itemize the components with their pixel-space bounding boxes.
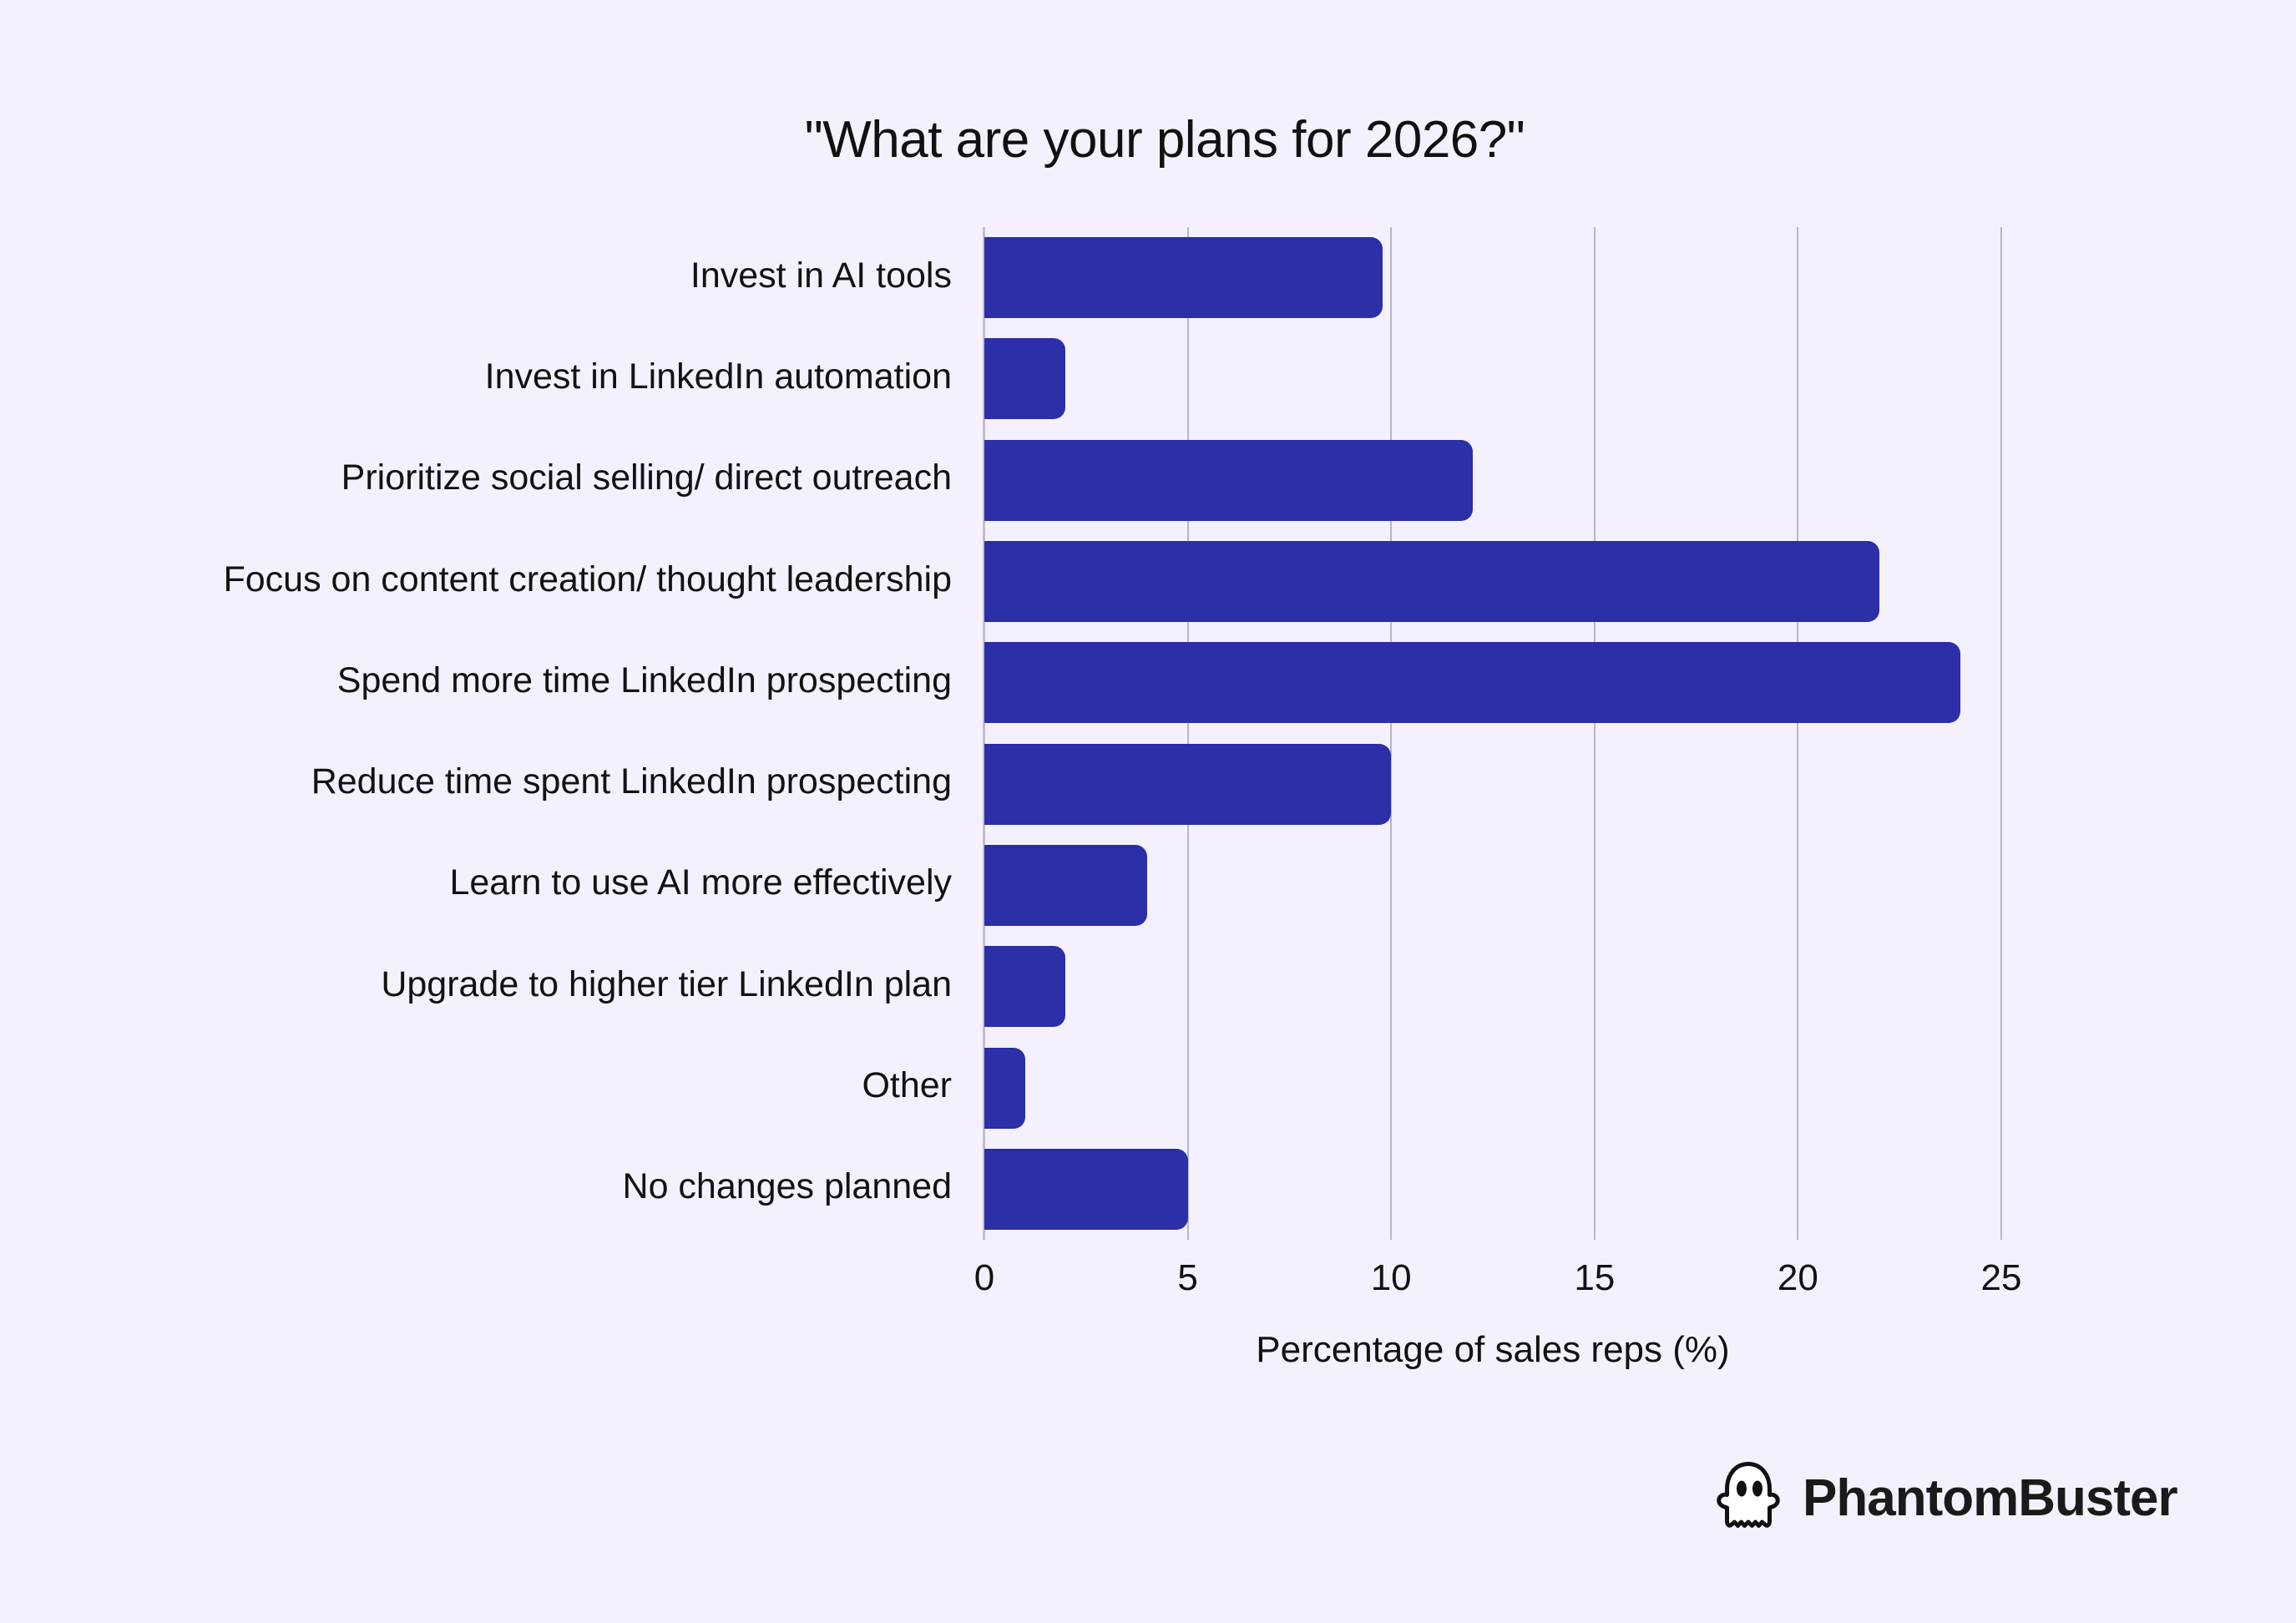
- x-axis-tick-label: 10: [1324, 1257, 1458, 1299]
- y-axis-tick-label: Focus on content creation/ thought leade…: [33, 559, 952, 600]
- gridline: [1390, 227, 1392, 1240]
- gridline: [1797, 227, 1798, 1240]
- plot-area: [984, 227, 2086, 1240]
- y-axis-tick-label: Reduce time spent LinkedIn prospecting: [33, 761, 952, 802]
- x-axis-tick-label: 0: [918, 1257, 1051, 1299]
- x-axis-tick-label: 20: [1731, 1257, 1864, 1299]
- y-axis-tick-label: No changes planned: [33, 1166, 952, 1207]
- brand-wordmark: PhantomBuster: [1803, 1469, 2177, 1528]
- y-axis-tick-labels: Invest in AI toolsInvest in LinkedIn aut…: [0, 0, 952, 1623]
- bar[interactable]: [984, 744, 1391, 825]
- bar[interactable]: [984, 845, 1147, 926]
- bar[interactable]: [984, 237, 1383, 318]
- x-axis-tick-label: 5: [1121, 1257, 1255, 1299]
- x-axis-title: Percentage of sales reps (%): [984, 1329, 2001, 1371]
- bar[interactable]: [984, 946, 1065, 1027]
- bar[interactable]: [984, 440, 1473, 521]
- y-axis-tick-label: Invest in LinkedIn automation: [33, 356, 952, 397]
- y-axis-tick-label: Invest in AI tools: [33, 255, 952, 296]
- brand-logo: PhantomBuster: [1716, 1461, 2177, 1535]
- bar[interactable]: [984, 1149, 1188, 1230]
- bar[interactable]: [984, 541, 1879, 622]
- chart-figure: "What are your plans for 2026?" Invest i…: [0, 0, 2296, 1623]
- ghost-icon: [1716, 1461, 1781, 1535]
- gridline: [1187, 227, 1189, 1240]
- y-axis-tick-label: Prioritize social selling/ direct outrea…: [33, 458, 952, 498]
- x-axis-tick-label: 25: [1934, 1257, 2068, 1299]
- bar[interactable]: [984, 642, 1960, 723]
- gridline: [2000, 227, 2002, 1240]
- bar[interactable]: [984, 338, 1065, 419]
- y-axis-tick-label: Spend more time LinkedIn prospecting: [33, 660, 952, 701]
- gridline: [1594, 227, 1596, 1240]
- y-axis-tick-label: Learn to use AI more effectively: [33, 862, 952, 903]
- y-axis-tick-label: Upgrade to higher tier LinkedIn plan: [33, 964, 952, 1005]
- y-axis-tick-label: Other: [33, 1065, 952, 1106]
- x-axis-tick-label: 15: [1528, 1257, 1661, 1299]
- bar[interactable]: [984, 1048, 1025, 1129]
